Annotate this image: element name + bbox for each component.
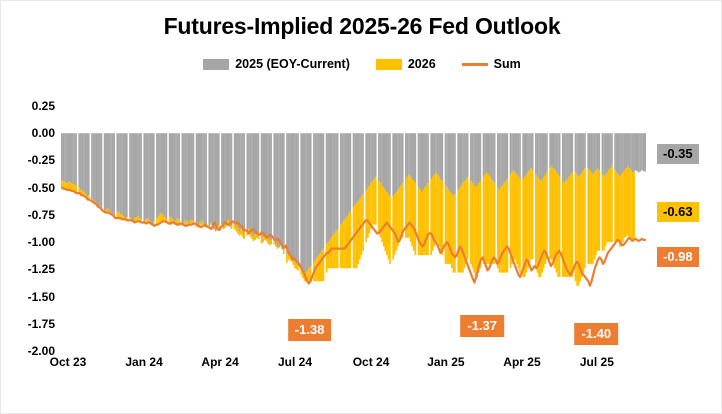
bar-2025 [486, 133, 488, 172]
bar-2026 [516, 175, 518, 264]
bar-2025 [399, 133, 401, 187]
bar-2025 [304, 133, 306, 275]
bar-2025 [394, 133, 396, 194]
bar-2025 [280, 133, 282, 245]
bar-2025 [345, 133, 347, 218]
bar-2026 [410, 177, 412, 242]
bar-2026 [448, 190, 450, 264]
bar-2026 [608, 170, 610, 242]
bar-2026 [286, 254, 288, 263]
x-axis-tick: Jan 24 [125, 355, 162, 369]
bar-2026 [396, 192, 398, 251]
plot-area [61, 106, 646, 351]
bar-2025 [204, 133, 206, 224]
bar-2025 [161, 133, 163, 212]
legend-label-2026: 2026 [408, 57, 436, 71]
bar-2025 [197, 133, 199, 224]
bar-2026 [597, 168, 599, 251]
bar-2025 [334, 133, 336, 233]
bar-2025 [388, 133, 390, 194]
bar-2025 [340, 133, 342, 224]
bar-2025 [554, 133, 556, 170]
bar-2026 [342, 223, 344, 269]
bar-2025 [193, 133, 195, 221]
bar-2025 [321, 133, 323, 251]
bar-2026 [445, 185, 447, 263]
bar-2026 [494, 183, 496, 264]
bar-2025 [418, 133, 420, 187]
bar-2025 [346, 133, 348, 216]
bar-2026 [239, 231, 241, 235]
bar-2026 [235, 225, 237, 232]
bar-2026 [253, 236, 255, 241]
bar-2025 [188, 133, 190, 222]
bar-2025 [294, 133, 296, 261]
bar-2026 [384, 190, 386, 251]
bar-2025 [473, 133, 475, 185]
bar-2025 [603, 133, 605, 177]
bar-2025 [506, 133, 508, 179]
bar-2025 [353, 133, 355, 207]
bar-2026 [231, 226, 233, 229]
bar-2025 [86, 133, 88, 196]
bar-2025 [524, 133, 526, 177]
bar-2025 [518, 133, 520, 177]
bar-2025 [231, 133, 233, 229]
bar-2025 [375, 133, 377, 177]
bar-2026 [611, 166, 613, 242]
bar-2025 [570, 133, 572, 174]
bar-2026 [441, 181, 443, 255]
bar-2025 [129, 133, 131, 217]
bar-2025 [478, 133, 480, 183]
bar-2026 [389, 196, 391, 264]
bar-2025 [269, 133, 271, 245]
bar-2026 [367, 188, 369, 238]
bar-2025 [166, 133, 168, 219]
bar-2025 [234, 133, 236, 229]
bar-2025 [437, 133, 439, 174]
bar-2025 [226, 133, 228, 226]
bar-2025 [424, 133, 426, 187]
bar-2026 [624, 170, 626, 238]
bar-2025 [329, 133, 331, 240]
bar-2025 [196, 133, 198, 226]
bar-2025 [289, 133, 291, 255]
bar-2025 [567, 133, 569, 179]
bar-2025 [438, 133, 440, 177]
bar-2025 [465, 133, 467, 179]
bar-2025 [356, 133, 358, 203]
bar-2026 [415, 183, 417, 255]
bar-2025 [630, 133, 632, 170]
bar-2026 [440, 179, 442, 251]
bar-2026 [594, 172, 596, 259]
bar-2026 [215, 230, 217, 231]
bar-2026 [519, 179, 521, 273]
bar-2025 [522, 133, 524, 179]
bar-2026 [465, 179, 467, 264]
bar-2025 [350, 133, 352, 211]
bar-2025 [75, 133, 77, 185]
bar-2025 [256, 133, 258, 238]
bar-2025 [415, 133, 417, 183]
bar-2026 [399, 188, 401, 242]
bar-2025 [291, 133, 293, 257]
bar-2026 [470, 181, 472, 264]
bar-2025 [164, 133, 166, 217]
bar-2025 [370, 133, 372, 183]
min-callout: -1.37 [460, 315, 504, 337]
bar-2026 [489, 177, 491, 264]
bar-2025 [530, 133, 532, 168]
bar-2025 [186, 133, 188, 221]
bar-2026 [537, 177, 539, 273]
bar-2026 [619, 177, 621, 247]
bar-2025 [67, 133, 69, 182]
bar-2025 [202, 133, 204, 222]
bar-2025 [83, 133, 85, 192]
bar-2026 [497, 188, 499, 269]
bar-2026 [472, 183, 474, 268]
bar-2025 [591, 133, 593, 172]
bar-2025 [140, 133, 142, 219]
bar-2025 [201, 133, 203, 220]
bar-2026 [502, 185, 504, 272]
y-axis-tick: 0.25 [1, 99, 55, 113]
bar-2025 [575, 133, 577, 172]
y-axis-tick: -1.75 [1, 317, 55, 331]
bar-2026 [242, 230, 244, 237]
bar-2026 [316, 257, 318, 281]
bar-2026 [567, 179, 569, 277]
bar-2025 [617, 133, 619, 174]
bar-2026 [356, 203, 358, 268]
bar-2025 [605, 133, 607, 174]
bar-2025 [472, 133, 474, 183]
bar-2026 [327, 242, 329, 268]
bar-2025 [120, 133, 122, 214]
bar-2026 [400, 185, 402, 237]
bar-2025 [551, 133, 553, 166]
bar-2026 [473, 185, 475, 272]
bar-2026 [372, 181, 374, 225]
bar-2026 [526, 175, 528, 273]
bar-2026 [591, 172, 593, 263]
bar-2026 [261, 237, 263, 244]
bar-2025 [85, 133, 87, 194]
bar-2026 [370, 183, 372, 229]
chart-container: Futures-Implied 2025-26 Fed Outlook 2025… [0, 0, 722, 414]
bar-2025 [124, 133, 126, 218]
bar-2025 [369, 133, 371, 185]
bar-2025 [454, 133, 456, 194]
bar-2025 [511, 133, 513, 172]
bar-2025 [136, 133, 138, 217]
bar-2025 [74, 133, 76, 184]
bar-2025 [112, 133, 114, 214]
bar-2026 [559, 177, 561, 277]
bar-2025 [562, 133, 564, 181]
chart-legend: 2025 (EOY-Current) 2026 Sum [1, 57, 722, 71]
bar-2026 [375, 177, 377, 225]
bar-2025 [91, 133, 93, 198]
bar-2025 [361, 133, 363, 196]
bar-2025 [541, 133, 543, 179]
bar-2025 [292, 133, 294, 259]
bar-2026 [243, 233, 245, 238]
legend-item-sum[interactable]: Sum [462, 57, 521, 71]
bar-2025 [343, 133, 345, 220]
bar-2025 [262, 133, 264, 242]
bar-2025 [392, 133, 394, 196]
bar-2025 [552, 133, 554, 168]
bar-2025 [145, 133, 147, 219]
bar-2025 [546, 133, 548, 172]
bar-2026 [296, 264, 298, 269]
bar-2026 [323, 249, 325, 282]
bar-2025 [183, 133, 185, 222]
bar-2025 [61, 133, 63, 180]
bar-2026 [584, 168, 586, 268]
plot-svg [61, 106, 646, 351]
bar-2025 [421, 133, 423, 192]
bar-2025 [644, 133, 646, 171]
bar-2025 [449, 133, 451, 192]
bar-2025 [529, 133, 531, 170]
bar-2025 [608, 133, 610, 170]
y-axis-tick: -0.25 [1, 153, 55, 167]
x-axis-tick: Apr 24 [201, 355, 238, 369]
bar-2025 [267, 133, 269, 243]
bar-2026 [603, 177, 605, 251]
bar-2026 [514, 172, 516, 259]
bar-2026 [408, 175, 410, 238]
bar-2026 [346, 216, 348, 268]
bar-2026 [326, 244, 328, 272]
x-axis: Oct 23Jan 24Apr 24Jul 24Oct 24Jan 25Apr … [61, 355, 646, 377]
bar-2025 [300, 133, 302, 270]
bar-2025 [491, 133, 493, 179]
legend-item-2026[interactable]: 2026 [376, 57, 436, 71]
bar-2026 [294, 262, 296, 269]
bar-2025 [445, 133, 447, 185]
bar-2025 [227, 133, 229, 224]
bar-2025 [80, 133, 82, 190]
bar-2025 [337, 133, 339, 229]
bar-2025 [532, 133, 534, 170]
bar-2025 [407, 133, 409, 177]
bar-2025 [446, 133, 448, 187]
legend-item-2025[interactable]: 2025 (EOY-Current) [203, 57, 350, 71]
bar-2026 [392, 196, 394, 259]
bar-2026 [277, 246, 279, 248]
bar-2026 [430, 179, 432, 255]
bar-2026 [435, 172, 437, 242]
bar-2025 [99, 133, 101, 206]
bar-2025 [592, 133, 594, 174]
x-axis-tick: Oct 24 [353, 355, 390, 369]
bar-2026 [522, 179, 524, 277]
bar-2025 [641, 133, 643, 170]
bar-2025 [640, 133, 642, 171]
bar-2025 [174, 133, 176, 221]
bar-2026 [518, 177, 520, 268]
bar-2025 [597, 133, 599, 168]
bar-2025 [113, 133, 115, 215]
x-axis-tick: Jan 25 [427, 355, 464, 369]
bar-2026 [334, 233, 336, 268]
bar-2026 [69, 181, 71, 190]
bar-2026 [177, 218, 179, 223]
bar-2025 [475, 133, 477, 187]
bar-2026 [457, 190, 459, 273]
bar-2025 [178, 133, 180, 219]
bar-2026 [595, 170, 597, 255]
bar-2026 [453, 196, 455, 272]
chart-title: Futures-Implied 2025-26 Fed Outlook [1, 13, 722, 40]
bar-2025 [242, 133, 244, 236]
bar-2025 [513, 133, 515, 170]
bar-2025 [556, 133, 558, 172]
bar-2025 [121, 133, 123, 215]
bar-2025 [310, 133, 312, 266]
bar-2026 [532, 170, 534, 259]
bar-2025 [432, 133, 434, 177]
bar-2025 [205, 133, 207, 227]
bar-2026 [568, 177, 570, 277]
bar-2026 [321, 251, 323, 281]
bar-2026 [475, 188, 477, 277]
bar-2025 [316, 133, 318, 257]
bar-2026 [621, 175, 623, 247]
bar-2025 [354, 133, 356, 205]
bar-2025 [148, 133, 150, 220]
bar-2026 [446, 188, 448, 264]
bar-2025 [296, 133, 298, 264]
bar-2025 [199, 133, 201, 222]
bar-2026 [329, 240, 331, 268]
bar-2025 [118, 133, 120, 211]
bar-2026 [581, 172, 583, 277]
y-axis-tick: 0.00 [1, 126, 55, 140]
bar-2025 [159, 133, 161, 214]
bar-2025 [235, 133, 237, 231]
bar-2026 [373, 179, 375, 225]
bar-2025 [243, 133, 245, 239]
bar-2025 [483, 133, 485, 177]
bar-2025 [251, 133, 253, 239]
bar-2026 [185, 220, 187, 224]
bar-2025 [221, 133, 223, 227]
x-axis-tick: Oct 23 [50, 355, 87, 369]
bar-2025 [419, 133, 421, 190]
bar-2026 [610, 168, 612, 242]
bar-2025 [229, 133, 231, 227]
bar-2026 [529, 170, 531, 264]
bar-2025 [571, 133, 573, 172]
bar-2026 [617, 175, 619, 243]
bar-2025 [64, 133, 66, 182]
bar-2026 [262, 237, 264, 242]
bar-2026 [343, 220, 345, 268]
bar-2026 [161, 213, 163, 222]
bar-2026 [592, 175, 594, 264]
bar-2026 [378, 181, 380, 233]
bar-2026 [478, 183, 480, 272]
bar-2025 [583, 133, 585, 170]
bar-2025 [484, 133, 486, 174]
bar-2026 [158, 216, 160, 223]
bar-2026 [411, 179, 413, 247]
bar-2026 [269, 240, 271, 245]
bar-2026 [67, 182, 69, 190]
bar-2025 [109, 133, 111, 210]
bar-2025 [480, 133, 482, 181]
bar-2025 [275, 133, 277, 246]
bar-2025 [595, 133, 597, 170]
bar-2025 [97, 133, 99, 205]
bar-2026 [461, 185, 463, 272]
legend-label-2025: 2025 (EOY-Current) [235, 57, 350, 71]
bar-2025 [278, 133, 280, 247]
bar-2026 [487, 175, 489, 264]
bar-2025 [158, 133, 160, 216]
bar-2025 [487, 133, 489, 174]
bar-2025 [302, 133, 304, 272]
bar-2026 [159, 214, 161, 222]
bar-2025 [616, 133, 618, 172]
bar-2026 [598, 170, 600, 251]
end-value-label: -0.98 [657, 247, 699, 267]
bar-2025 [372, 133, 374, 181]
bar-2025 [434, 133, 436, 174]
bar-2025 [362, 133, 364, 194]
bar-2025 [253, 133, 255, 241]
bar-2026 [484, 175, 486, 264]
bar-2026 [506, 179, 508, 273]
end-value-label: -0.35 [657, 144, 699, 164]
bar-2026 [606, 172, 608, 242]
bar-2025 [169, 133, 171, 216]
bar-2025 [492, 133, 494, 181]
bar-2026 [169, 216, 171, 223]
bar-2025 [367, 133, 369, 187]
bar-2025 [365, 133, 367, 190]
bar-2025 [104, 133, 106, 210]
bar-2025 [453, 133, 455, 196]
bar-2025 [181, 133, 183, 223]
bar-2026 [459, 188, 461, 273]
bar-2026 [434, 175, 436, 247]
bar-2025 [172, 133, 174, 219]
bar-2025 [540, 133, 542, 181]
bar-2025 [627, 133, 629, 166]
bar-2026 [223, 227, 225, 229]
bar-2026 [156, 218, 158, 223]
legend-line-sum [462, 63, 488, 66]
bar-2025 [105, 133, 107, 209]
bar-2025 [459, 133, 461, 187]
bar-2025 [636, 133, 638, 171]
bar-2025 [332, 133, 334, 235]
bar-2025 [273, 133, 275, 244]
x-axis-tick: Jul 25 [580, 355, 614, 369]
bar-2026 [210, 223, 212, 225]
bar-2026 [467, 177, 469, 260]
bar-2026 [275, 243, 277, 246]
bar-2026 [483, 177, 485, 264]
